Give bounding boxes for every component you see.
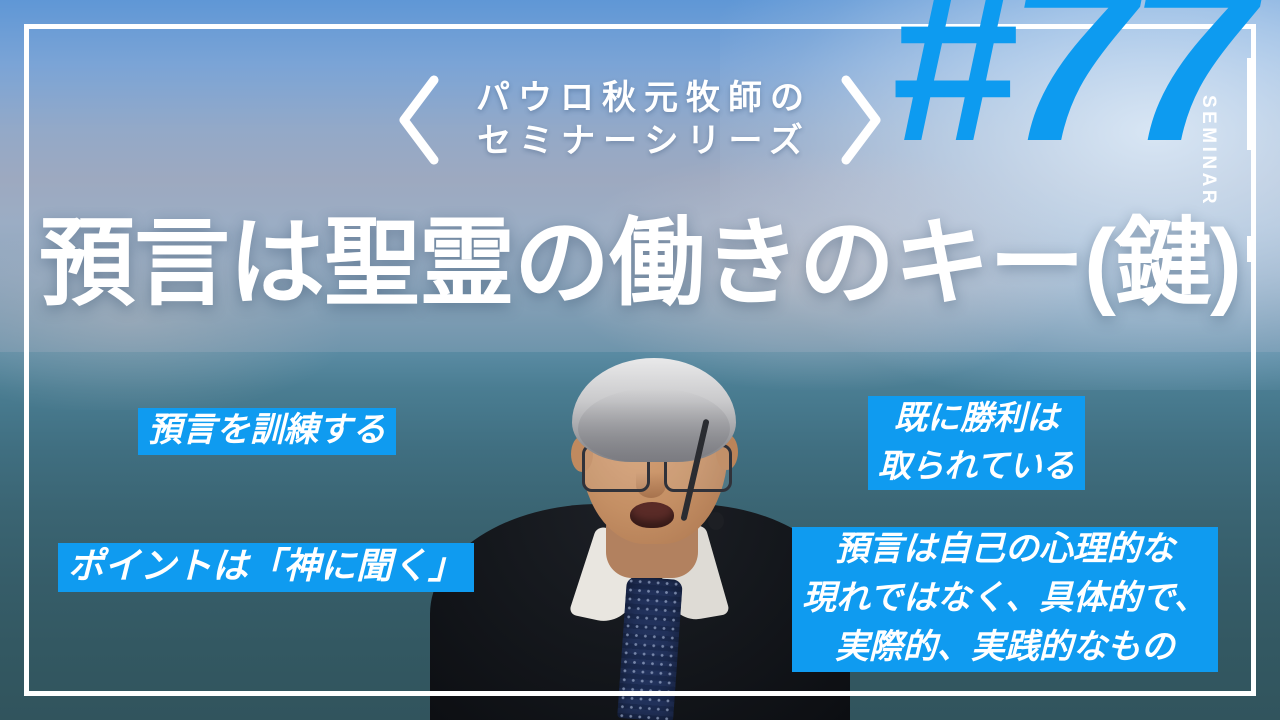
speaker-mouth [630, 502, 674, 528]
thumbnail-canvas: #77 SEMINAR パウロ秋元牧師の セミナーシリーズ 預言は聖霊の働きのキ… [0, 0, 1280, 720]
speaker-necktie [617, 576, 683, 720]
headset-microphone-capsule [708, 512, 724, 530]
speaker-hair [572, 358, 736, 462]
main-title: 預言は聖霊の働きのキー(鍵) [0, 212, 1280, 316]
caption-line: 既に勝利は [868, 396, 1085, 442]
caption-point-listen-to-god: ポイントは「神に聞く」 [58, 543, 474, 592]
caption-line: 実際的、実践的なもの [792, 625, 1218, 672]
seminar-rule-top [1247, 58, 1253, 150]
caption-line: 取られている [868, 444, 1085, 490]
speaker-portrait [430, 352, 850, 720]
caption-train-prophecy: 預言を訓練する [138, 408, 396, 455]
caption-line: ポイントは「神に聞く」 [58, 543, 474, 592]
seminar-vertical-label: SEMINAR [1197, 91, 1219, 211]
caption-prophecy-is-practical: 預言は自己の心理的な 現れではなく、具体的で、 実際的、実践的なもの [792, 527, 1218, 672]
caption-victory-already-taken: 既に勝利は 取られている [868, 396, 1085, 490]
caption-line: 現れではなく、具体的で、 [792, 576, 1218, 623]
episode-number: #77 [888, 0, 1248, 176]
caption-line: 預言を訓練する [138, 408, 396, 455]
caption-line: 預言は自己の心理的な [792, 527, 1218, 574]
